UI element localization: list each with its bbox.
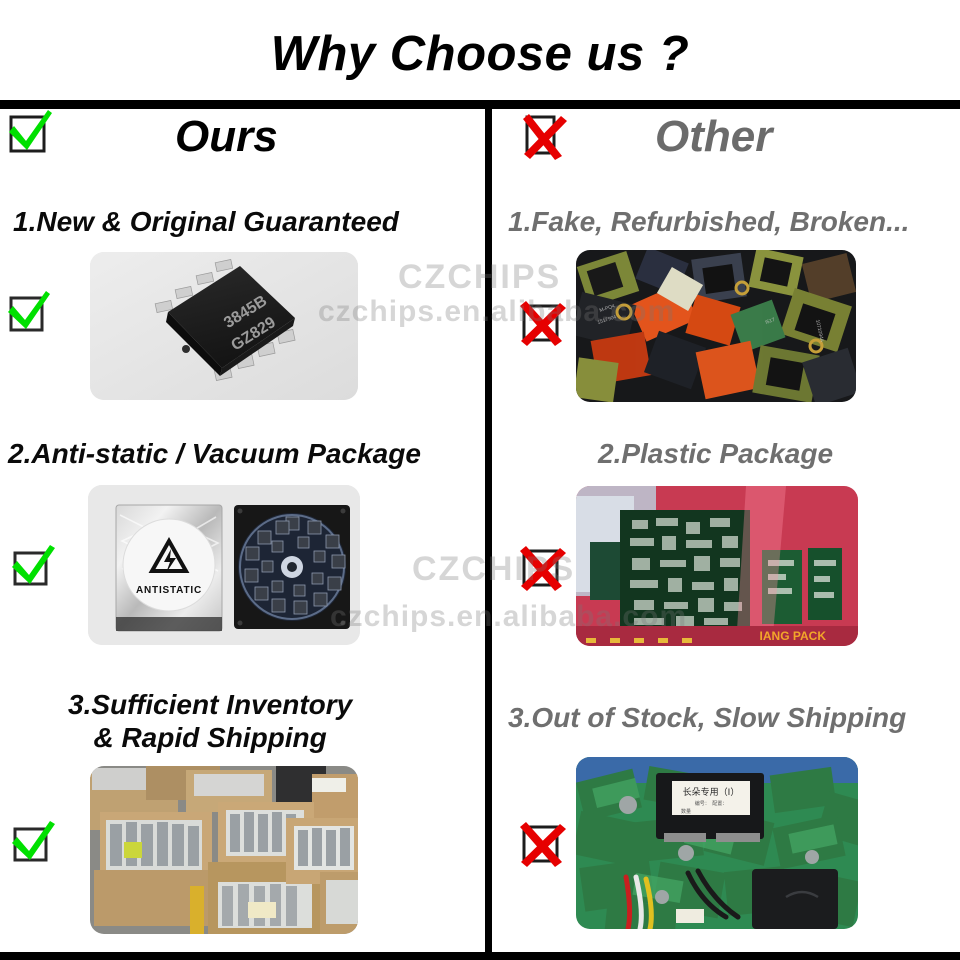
red-cross-icon [521,113,565,157]
green-check-icon [6,288,50,332]
column-header-other: Other [655,112,772,162]
red-cross-icon [519,301,563,345]
row-2-heading-other: 2.Plastic Package [598,437,833,470]
footer-divider-rule [0,952,960,960]
page-title: Why Choose us ? [0,26,960,82]
watermark-brand: CZCHIPS [398,258,561,297]
green-check-icon [12,818,56,862]
svg-text:数量: 数量 [681,808,691,815]
svg-text:长朵专用（Ⅰ）: 长朵专用（Ⅰ） [683,786,740,797]
column-divider-rule [485,109,492,960]
photo-stocked-cartons [90,766,358,934]
photo-antistatic-bag-reel: ANTISTATIC [88,485,360,645]
row-3-heading-ours-line1: 3.Sufficient Inventory [68,689,352,720]
comparison-poster: Why Choose us ? Ours Other 1.New & Origi… [0,0,960,960]
svg-text:编号： 配置：: 编号： 配置： [695,800,728,807]
row-3-heading-ours-line2: & Rapid Shipping [68,721,352,754]
svg-text:ANTISTATIC: ANTISTATIC [136,585,202,596]
photo-scrap-green-boards: 长朵专用（Ⅰ） 编号： 配置： 数量 [576,757,858,929]
photo-plastic-bag-boards: IANG PACK [576,486,858,646]
row-1-heading-ours: 1.New & Original Guaranteed [13,205,399,238]
red-cross-icon [519,546,563,590]
header-divider-rule [0,100,960,109]
red-cross-icon [519,822,563,866]
row-2-heading-ours: 2.Anti-static / Vacuum Package [8,437,421,470]
photo-scrap-chips: M-PQ4 1517904 1071094A I517 [576,250,856,402]
green-check-icon [12,542,56,586]
row-3-heading-ours: 3.Sufficient Inventory & Rapid Shipping [68,688,352,754]
row-3-heading-other: 3.Out of Stock, Slow Shipping [508,701,906,734]
row-1-heading-other: 1.Fake, Refurbished, Broken... [508,205,909,238]
green-check-icon [8,112,52,156]
svg-text:IANG PACK: IANG PACK [760,629,827,643]
photo-chip-sop8: 3845B GZ829 [90,252,358,400]
column-header-ours: Ours [175,112,278,162]
